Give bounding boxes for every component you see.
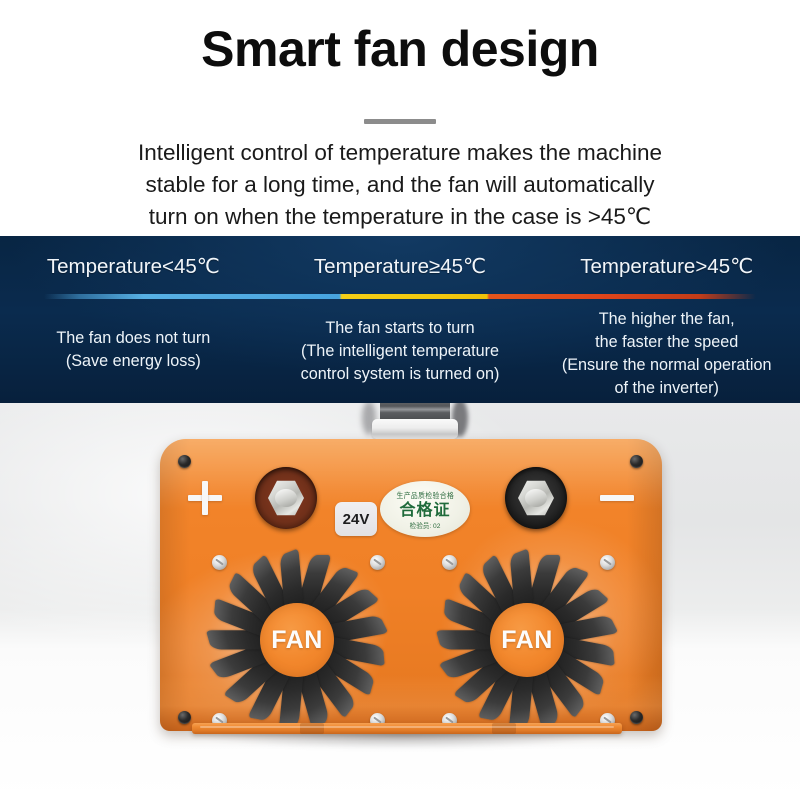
base-notch-left xyxy=(300,723,324,734)
negative-terminal-nut xyxy=(518,480,554,516)
state2-line-3: control system is turned on) xyxy=(301,363,500,386)
fan-screw-1 xyxy=(212,555,227,570)
hero-subtitle-line-1: Intelligent control of temperature makes… xyxy=(80,137,720,169)
state1-line-1: The fan does not turn xyxy=(56,327,210,350)
title-divider xyxy=(364,119,436,124)
panel-screw-bottom-right xyxy=(630,711,643,724)
temperature-states-band: Temperature<45℃ Temperature≥45℃ Temperat… xyxy=(0,236,800,403)
panel-screw-bottom-left xyxy=(178,711,191,724)
state2-line-1: The fan starts to turn xyxy=(325,317,474,340)
product-photo: FAN FAN 24V 生产品质检验合格 xyxy=(0,403,800,800)
negative-terminal xyxy=(505,467,567,529)
hero-subtitle-line-2: stable for a long time, and the fan will… xyxy=(80,169,720,201)
temperature-gradient-bar xyxy=(44,294,756,299)
panel-screw-top-left xyxy=(178,455,191,468)
minus-icon xyxy=(600,495,634,501)
carry-handle-icon xyxy=(372,403,458,443)
state3-line-3: (Ensure the normal operation xyxy=(562,354,772,377)
base-notch-right xyxy=(492,723,516,734)
state-description-at-or-above-45: The fan starts to turn (The intelligent … xyxy=(267,308,534,403)
state3-line-1: The higher the fan, xyxy=(599,308,735,331)
fan-screw-2 xyxy=(370,555,385,570)
state-header-at-or-above-45: Temperature≥45℃ xyxy=(267,246,534,286)
hero-subtitle-line-3: turn on when the temperature in the case… xyxy=(80,201,720,233)
positive-terminal xyxy=(255,467,317,529)
qc-main-text: 合格证 xyxy=(399,503,450,519)
state-description-below-45: The fan does not turn (Save energy loss) xyxy=(0,308,267,403)
state1-line-2: (Save energy loss) xyxy=(66,350,201,373)
fan-left-label: FAN xyxy=(271,626,323,655)
state3-line-2: the faster the speed xyxy=(595,331,738,354)
state2-line-2: (The intelligent temperature xyxy=(301,340,499,363)
qc-arc-text: 生产品质检验合格 xyxy=(396,491,454,501)
fan-left-hub: FAN xyxy=(260,603,334,677)
inverter-faceplate: FAN FAN 24V 生产品质检验合格 xyxy=(160,439,662,731)
page-title: Smart fan design xyxy=(201,22,599,77)
fan-right-label: FAN xyxy=(501,626,553,655)
fan-screw-4 xyxy=(600,555,615,570)
qc-certificate-sticker: 生产品质检验合格 合格证 检验员: 02 xyxy=(380,481,470,537)
product-infographic-page: Smart fan design Intelligent control of … xyxy=(0,0,800,800)
fan-right-hub: FAN xyxy=(490,603,564,677)
band-descriptions-row: The fan does not turn (Save energy loss)… xyxy=(0,308,800,403)
positive-terminal-nut xyxy=(268,480,304,516)
fan-left: FAN xyxy=(208,551,386,729)
state-description-above-45: The higher the fan, the faster the speed… xyxy=(533,308,800,403)
voltage-badge: 24V xyxy=(335,502,377,536)
band-headers-row: Temperature<45℃ Temperature≥45℃ Temperat… xyxy=(0,246,800,286)
fan-right: FAN xyxy=(438,551,616,729)
fan-screw-3 xyxy=(442,555,457,570)
plus-icon xyxy=(188,481,222,515)
qc-inspector-text: 检验员: 02 xyxy=(410,520,441,530)
hero-subtitle: Intelligent control of temperature makes… xyxy=(80,137,720,234)
state3-line-4: of the inverter) xyxy=(614,377,718,400)
panel-screw-top-right xyxy=(630,455,643,468)
product-base-lip xyxy=(192,723,622,734)
state-header-below-45: Temperature<45℃ xyxy=(0,246,267,286)
state-header-above-45: Temperature>45℃ xyxy=(533,246,800,286)
handle-base xyxy=(372,419,458,439)
hero-section: Smart fan design Intelligent control of … xyxy=(0,0,800,236)
